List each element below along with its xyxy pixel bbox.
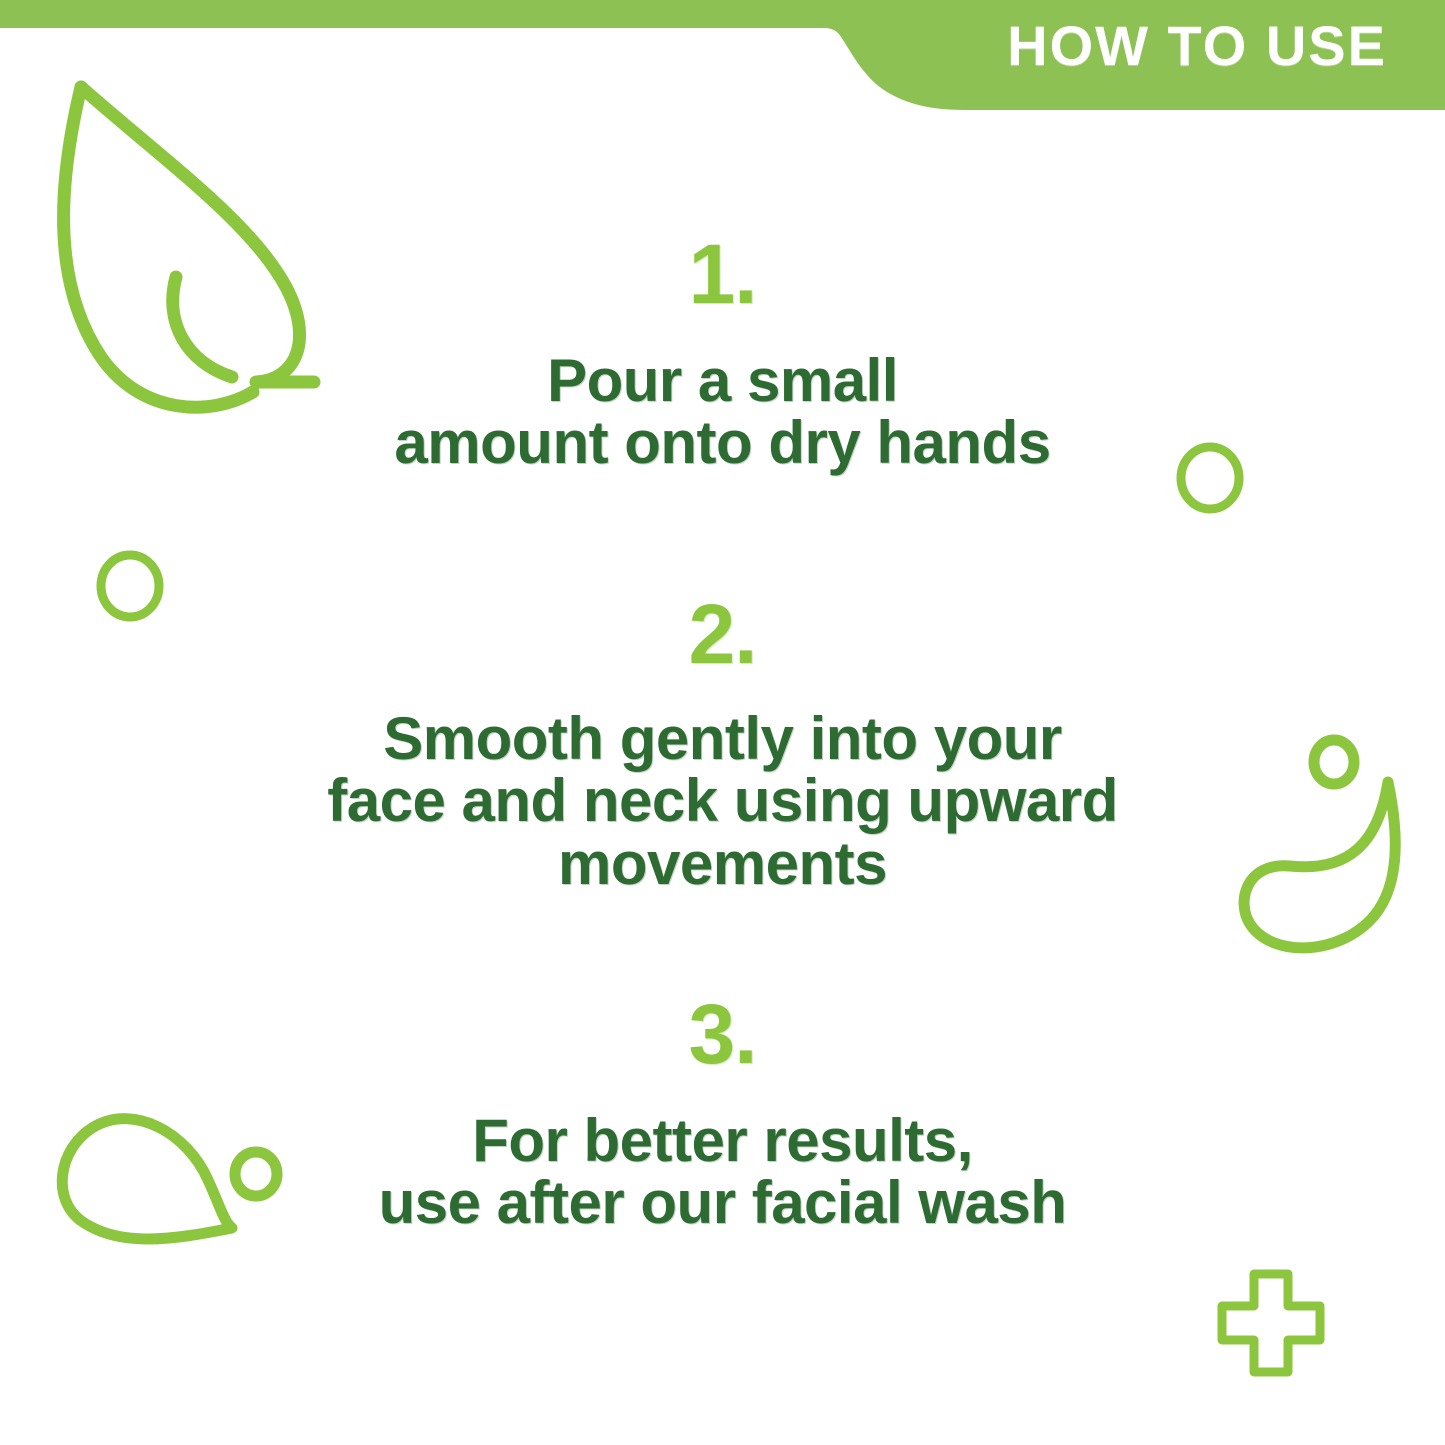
step-text-line: For better results, [120, 1110, 1325, 1172]
step-text: Smooth gently into your face and neck us… [0, 708, 1445, 895]
step-text-line: amount onto dry hands [120, 412, 1325, 474]
step-text: Pour a small amount onto dry hands [0, 350, 1445, 475]
bottom-watermark [455, 1372, 975, 1445]
step-text-line: Smooth gently into your [120, 708, 1325, 770]
step-text: For better results, use after our facial… [0, 1110, 1445, 1235]
step-text-line: Pour a small [120, 350, 1325, 412]
step-text-line: use after our facial wash [120, 1172, 1325, 1234]
step-item: 3. For better results, use after our fac… [0, 992, 1445, 1235]
step-text-line: movements [120, 833, 1325, 895]
step-number: 2. [0, 592, 1445, 676]
step-number: 3. [0, 992, 1445, 1076]
step-item: 2. Smooth gently into your face and neck… [0, 592, 1445, 895]
step-number: 1. [0, 232, 1445, 316]
steps-list: 1. Pour a small amount onto dry hands 2.… [0, 0, 1445, 1445]
step-item: 1. Pour a small amount onto dry hands [0, 232, 1445, 475]
how-to-use-infographic: HOW TO USE 1. [0, 0, 1445, 1445]
step-text-line: face and neck using upward [120, 770, 1325, 832]
